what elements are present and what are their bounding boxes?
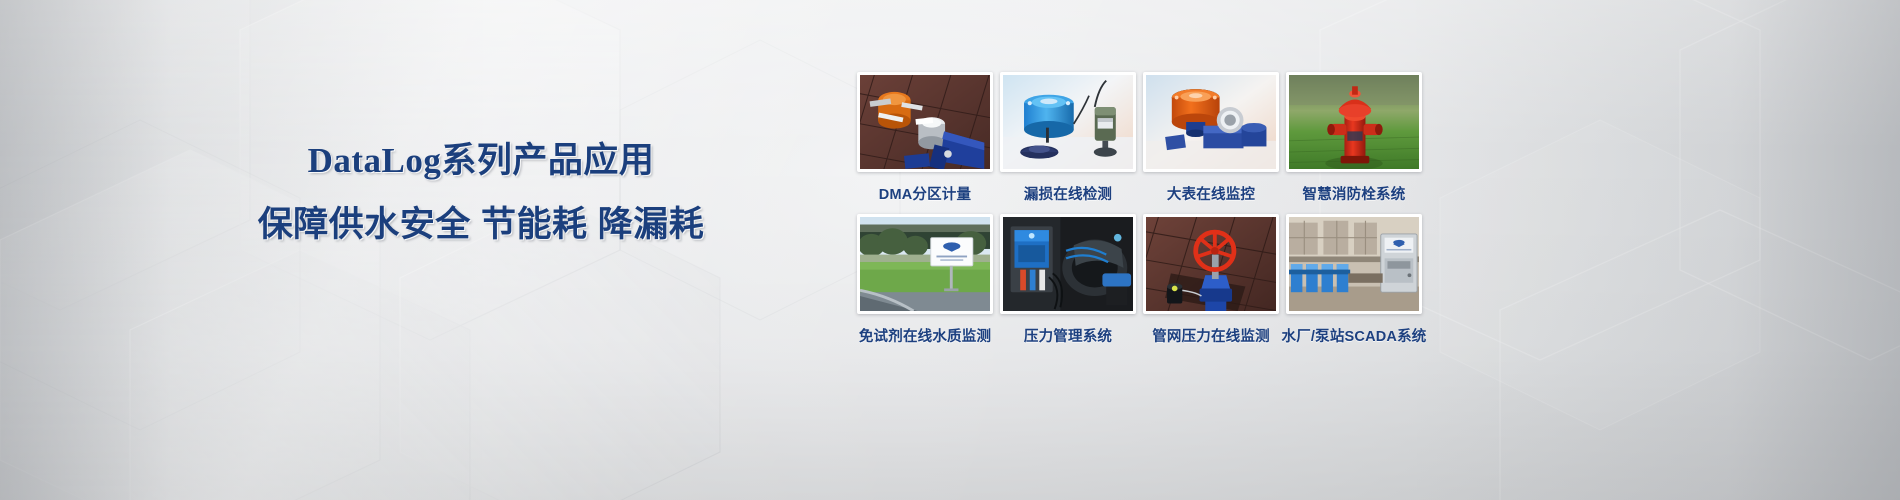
product-thumbnail-frame[interactable] (857, 72, 993, 172)
product-caption: DMA分区计量 (879, 183, 971, 204)
product-card-water-quality[interactable]: 免试剂在线水质监测 (855, 214, 995, 346)
product-caption: 水厂/泵站SCADA系统 (1282, 325, 1427, 346)
product-card-pipe-pressure-monitor[interactable]: 管网压力在线监测 (1141, 214, 1281, 346)
product-caption: 压力管理系统 (1024, 325, 1112, 346)
dma-metering-chamber-photo (860, 75, 990, 169)
product-thumbnail-frame[interactable] (1286, 72, 1422, 172)
product-caption: 免试剂在线水质监测 (859, 325, 991, 346)
product-application-grid: DMA分区计量 (855, 72, 1424, 346)
large-meter-monitor-photo (1146, 75, 1276, 169)
product-thumbnail-frame[interactable] (1286, 214, 1422, 314)
product-card-pressure-management[interactable]: 压力管理系统 (998, 214, 1138, 346)
leak-detection-device-photo (1003, 75, 1133, 169)
pipe-pressure-monitor-photo (1146, 217, 1276, 311)
product-card-dma-metering[interactable]: DMA分区计量 (855, 72, 995, 204)
product-caption: 漏损在线检测 (1024, 183, 1112, 204)
product-card-leak-detection[interactable]: 漏损在线检测 (998, 72, 1138, 204)
smart-hydrant-photo (1289, 75, 1419, 169)
product-application-banner: DataLog系列产品应用 保障供水安全 节能耗 降漏耗 (0, 0, 1900, 500)
product-thumbnail-frame[interactable] (857, 214, 993, 314)
product-caption: 大表在线监控 (1167, 183, 1255, 204)
product-card-large-meter-monitor[interactable]: 大表在线监控 (1141, 72, 1281, 204)
product-caption: 管网压力在线监测 (1152, 325, 1270, 346)
product-thumbnail-frame[interactable] (1000, 72, 1136, 172)
product-caption: 智慧消防栓系统 (1303, 183, 1406, 204)
headline-line-1: DataLog系列产品应用 (246, 140, 716, 182)
product-card-smart-hydrant[interactable]: 智慧消防栓系统 (1284, 72, 1424, 204)
headline-block: DataLog系列产品应用 保障供水安全 节能耗 降漏耗 (246, 140, 716, 246)
headline-line-2: 保障供水安全 节能耗 降漏耗 (246, 204, 716, 246)
product-thumbnail-frame[interactable] (1000, 214, 1136, 314)
product-card-scada-system[interactable]: 水厂/泵站SCADA系统 (1284, 214, 1424, 346)
product-thumbnail-frame[interactable] (1143, 214, 1279, 314)
scada-pump-station-photo (1289, 217, 1419, 311)
product-thumbnail-frame[interactable] (1143, 72, 1279, 172)
pressure-management-cabinet-photo (1003, 217, 1133, 311)
reagent-free-water-quality-photo (860, 217, 990, 311)
